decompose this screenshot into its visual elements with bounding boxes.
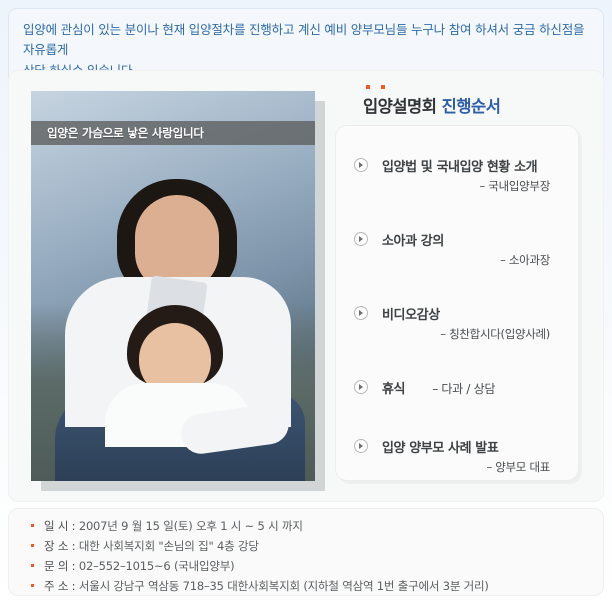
detail-label: 장 소 :	[44, 538, 75, 554]
page-title-accent: 진행순서	[442, 97, 501, 116]
detail-value: 2007년 9 월 15 일(토) 오후 1 시 ~ 5 시 까지	[79, 519, 303, 533]
detail-row-place: 장 소 : 대한 사회복지회 "손님의 집" 4층 강당	[31, 538, 603, 554]
list-item: 비디오감상 – 칭찬합시다(입양사례)	[352, 304, 564, 342]
play-circle-icon	[354, 306, 368, 320]
program-item-title: 휴식	[382, 382, 405, 397]
list-item: 소아과 강의 – 소아과장	[352, 230, 564, 268]
program-item-title: 입양 양부모 사례 발표	[382, 441, 498, 456]
detail-label: 문 의 :	[44, 558, 75, 574]
play-circle-icon	[354, 439, 368, 453]
program-item-inline: – 다과 / 상담	[432, 382, 495, 396]
photo-caption-text: 입양은 가슴으로 낳은 사랑입니다	[31, 125, 204, 141]
program-item-sub: – 양부모 대표	[382, 459, 564, 475]
detail-row-contact: 문 의 : 02–552–1015~6 (국내입양부)	[31, 558, 603, 574]
program-list: 입양법 및 국내입양 현황 소개 – 국내입양부장 소아과 강의 – 소아과장 …	[352, 156, 564, 530]
detail-label: 일 시 :	[44, 518, 75, 534]
program-card: 입양법 및 국내입양 현황 소개 – 국내입양부장 소아과 강의 – 소아과장 …	[335, 125, 579, 481]
program-item-title: 소아과 강의	[382, 234, 444, 249]
family-photo: 입양은 가슴으로 낳은 사랑입니다	[31, 91, 315, 481]
dot-icon-1	[366, 85, 370, 89]
list-item: 입양법 및 국내입양 현황 소개 – 국내입양부장	[352, 156, 564, 194]
program-item-sub: – 소아과장	[382, 252, 564, 268]
detail-value: 대한 사회복지회 "손님의 집" 4층 강당	[79, 539, 259, 553]
program-heading: 입양설명회 진행순서	[363, 85, 583, 117]
page-title-main: 입양설명회	[363, 97, 436, 116]
play-circle-icon	[354, 232, 368, 246]
program-item-title: 비디오감상	[382, 308, 440, 323]
detail-row-date: 일 시 : 2007년 9 월 15 일(토) 오후 1 시 ~ 5 시 까지	[31, 518, 603, 534]
detail-value: 02–552–1015~6 (국내입양부)	[79, 559, 235, 573]
detail-row-address: 주 소 : 서울시 강남구 역삼동 718–35 대한사회복지회 (지하철 역삼…	[31, 578, 603, 594]
main-content-panel: 입양은 가슴으로 낳은 사랑입니다 입양설명회 진행순서 입양법 및 국내입양 …	[8, 70, 604, 502]
announcement-page: 입양에 관심이 있는 분이나 현재 입양절차를 진행하고 계신 예비 양부모님들…	[0, 0, 612, 604]
list-item: 휴식 – 다과 / 상담	[352, 378, 564, 397]
play-circle-icon	[354, 380, 368, 394]
program-item-sub: – 칭찬합시다(입양사례)	[382, 326, 564, 342]
dot-icon-2	[381, 85, 385, 89]
photo-block: 입양은 가슴으로 낳은 사랑입니다	[31, 91, 315, 481]
list-item: 입양 양부모 사례 발표 – 양부모 대표	[352, 437, 564, 475]
program-item-title: 입양법 및 국내입양 현황 소개	[382, 160, 537, 175]
play-circle-icon	[354, 158, 368, 172]
heading-dots-decoration	[366, 85, 583, 89]
page-title: 입양설명회 진행순서	[363, 93, 583, 117]
detail-value: 서울시 강남구 역삼동 718–35 대한사회복지회 (지하철 역삼역 1번 출…	[79, 579, 489, 593]
detail-label: 주 소 :	[44, 578, 75, 594]
photo-caption-bar: 입양은 가슴으로 낳은 사랑입니다	[31, 121, 315, 145]
program-item-sub: – 국내입양부장	[382, 178, 564, 194]
event-details-box: 일 시 : 2007년 9 월 15 일(토) 오후 1 시 ~ 5 시 까지 …	[8, 508, 604, 596]
